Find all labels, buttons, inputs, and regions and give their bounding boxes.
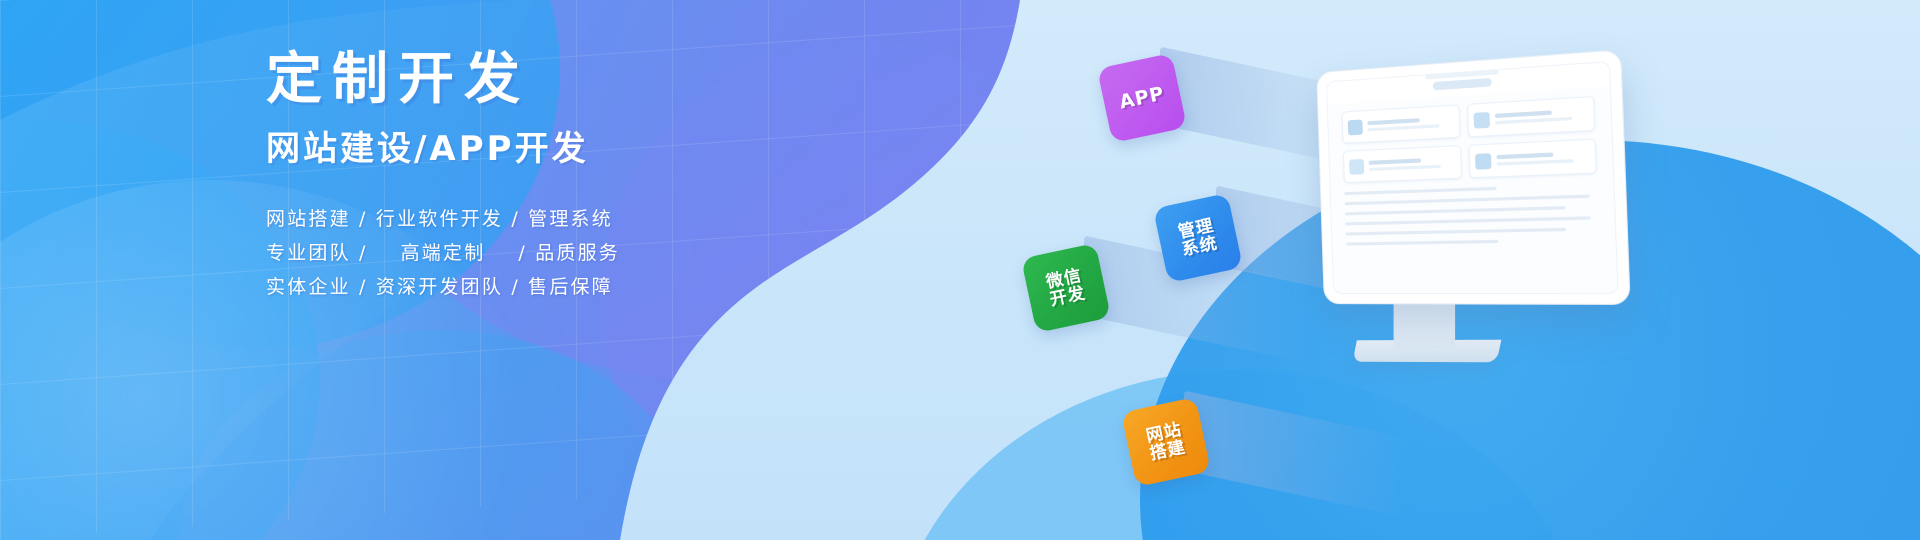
screen-card-text [1494, 108, 1588, 124]
screen-text-line [1346, 228, 1567, 236]
service-card-wechat-label: 微信 开发 [1045, 267, 1088, 310]
screen-card [1466, 96, 1595, 137]
promo-banner: 定制开发 网站建设/APP开发 网站搭建 / 行业软件开发 / 管理系统 专业团… [0, 0, 1920, 540]
screen-card-text [1369, 157, 1455, 171]
screen-text-line [1345, 206, 1566, 215]
feature-line-1: 网站搭建 / 行业软件开发 / 管理系统 [266, 202, 786, 236]
screen-card-icon [1349, 158, 1364, 174]
screen-card-icon [1473, 111, 1490, 128]
screen-text-line [1344, 187, 1496, 195]
headline: 定制开发 [266, 52, 786, 108]
screen-text-line [1345, 216, 1590, 225]
screen-card-grid [1342, 96, 1597, 183]
screen-card-text [1496, 151, 1590, 166]
screen-card-text [1367, 116, 1453, 131]
service-card-website-label: 网站 搭建 [1145, 421, 1188, 464]
service-card-wechat-development[interactable]: 微信 开发 [1021, 243, 1111, 333]
monitor-mockup [1316, 49, 1631, 305]
service-card-app-label: APP [1118, 83, 1167, 112]
feature-list: 网站搭建 / 行业软件开发 / 管理系统 专业团队 / 高端定制 / 品质服务 … [266, 202, 786, 304]
screen-card-icon [1474, 153, 1491, 170]
screen-card-icon [1348, 119, 1363, 135]
copy-block: 定制开发 网站建设/APP开发 网站搭建 / 行业软件开发 / 管理系统 专业团… [266, 52, 786, 304]
service-card-website-build[interactable]: 网站 搭建 [1121, 397, 1211, 487]
feature-line-2: 专业团队 / 高端定制 / 品质服务 [266, 236, 786, 270]
screen-card [1342, 104, 1461, 143]
service-card-management-system[interactable]: 管理 系统 [1153, 193, 1243, 283]
screen-card [1468, 139, 1597, 179]
service-card-management-system-label: 管理 系统 [1177, 217, 1220, 260]
monitor-stand [1394, 300, 1456, 349]
monitor-screen [1326, 61, 1619, 294]
feature-line-3: 实体企业 / 资深开发团队 / 售后保障 [266, 270, 786, 304]
screen-card [1343, 145, 1462, 183]
screen-text-lines [1344, 183, 1599, 252]
screen-text-line [1346, 240, 1498, 246]
service-card-app[interactable]: APP [1097, 53, 1187, 143]
subheadline: 网站建设/APP开发 [266, 132, 786, 166]
screen-nav-pill [1433, 78, 1492, 90]
screen-text-line [1345, 195, 1590, 206]
